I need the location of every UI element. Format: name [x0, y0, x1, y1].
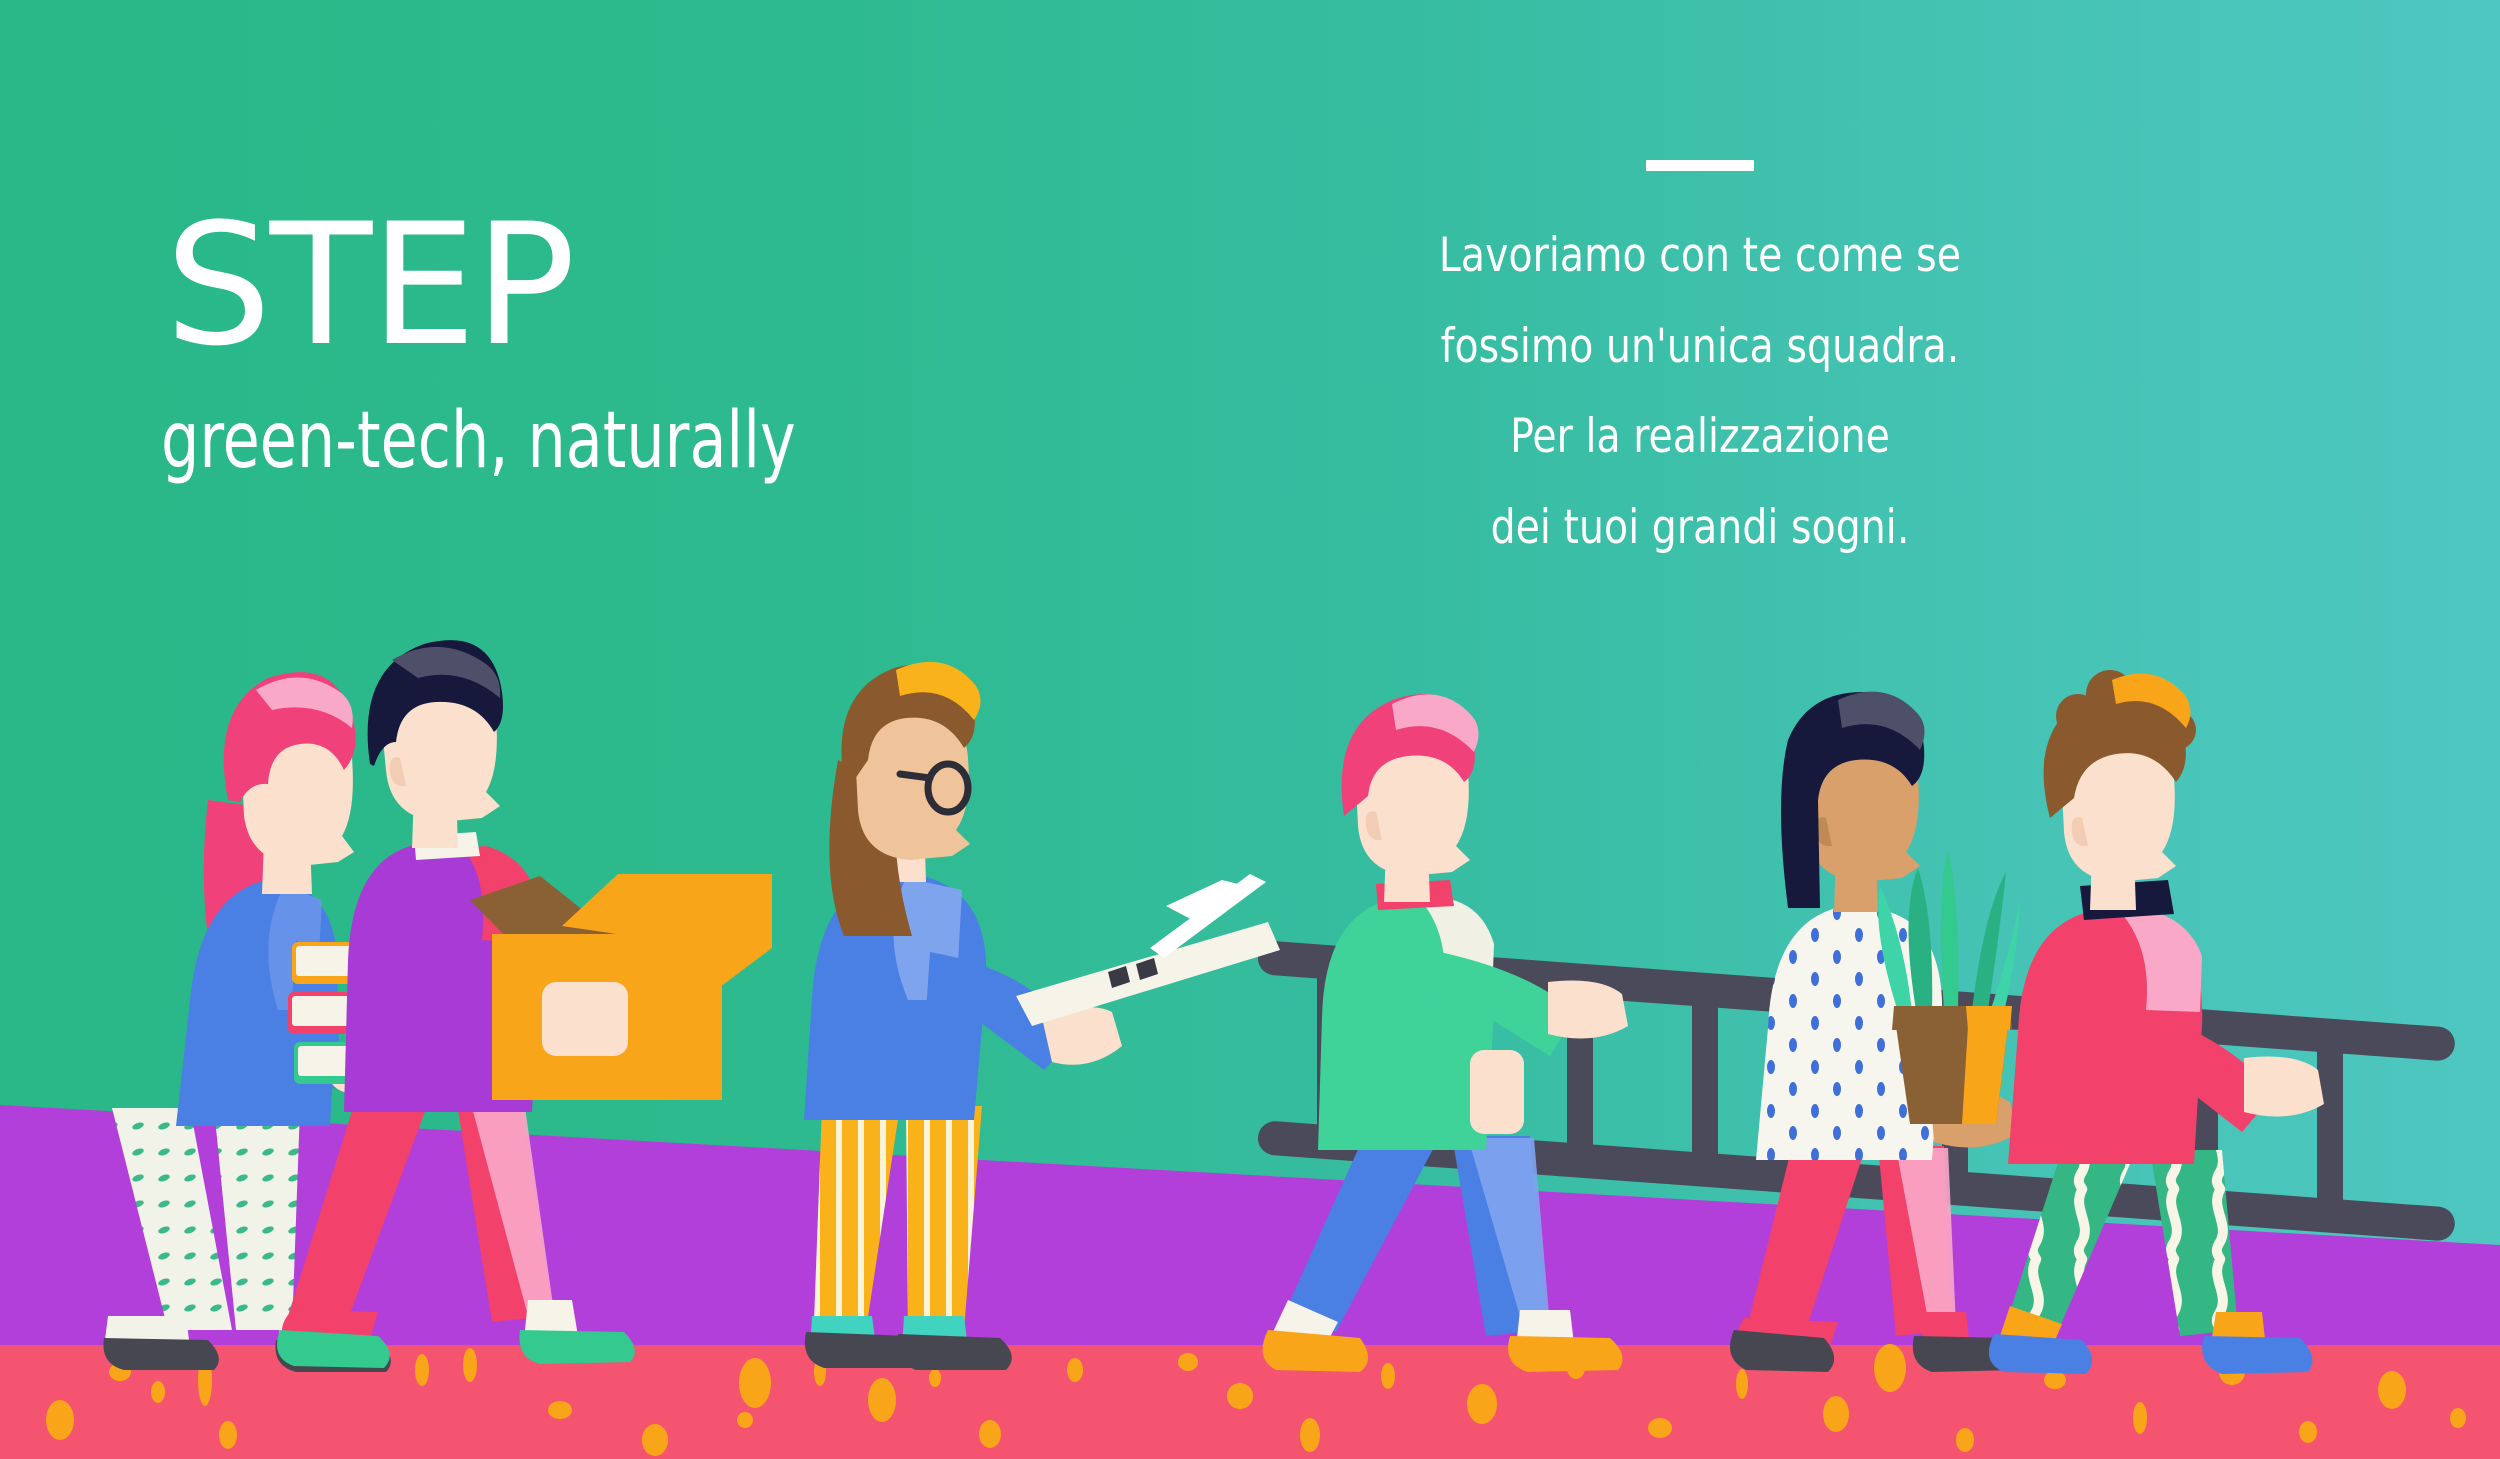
hero-banner: step green-tech, naturally Lavoriamo con… [0, 0, 2500, 1459]
brand-logo[interactable]: step [165, 140, 985, 380]
brand-block: step green-tech, naturally [165, 140, 985, 480]
shoe [1989, 1334, 2092, 1374]
hand [1470, 1050, 1524, 1134]
shoe [103, 1338, 218, 1370]
claim-divider [1646, 160, 1754, 171]
claim-line-1: Lavoriamo con te come se [1402, 229, 1997, 283]
hand [542, 982, 628, 1056]
claim-line-3: Per la realizzazione [1402, 410, 1997, 464]
shoe [277, 1330, 390, 1368]
claim-line-2: fossimo un'unica squadra. [1402, 320, 1997, 374]
claim-block: Lavoriamo con te come se fossimo un'unic… [1380, 130, 2020, 554]
brand-tagline: green-tech, naturally [161, 402, 870, 480]
claim-line-4: dei tuoi grandi sogni. [1402, 501, 1997, 555]
